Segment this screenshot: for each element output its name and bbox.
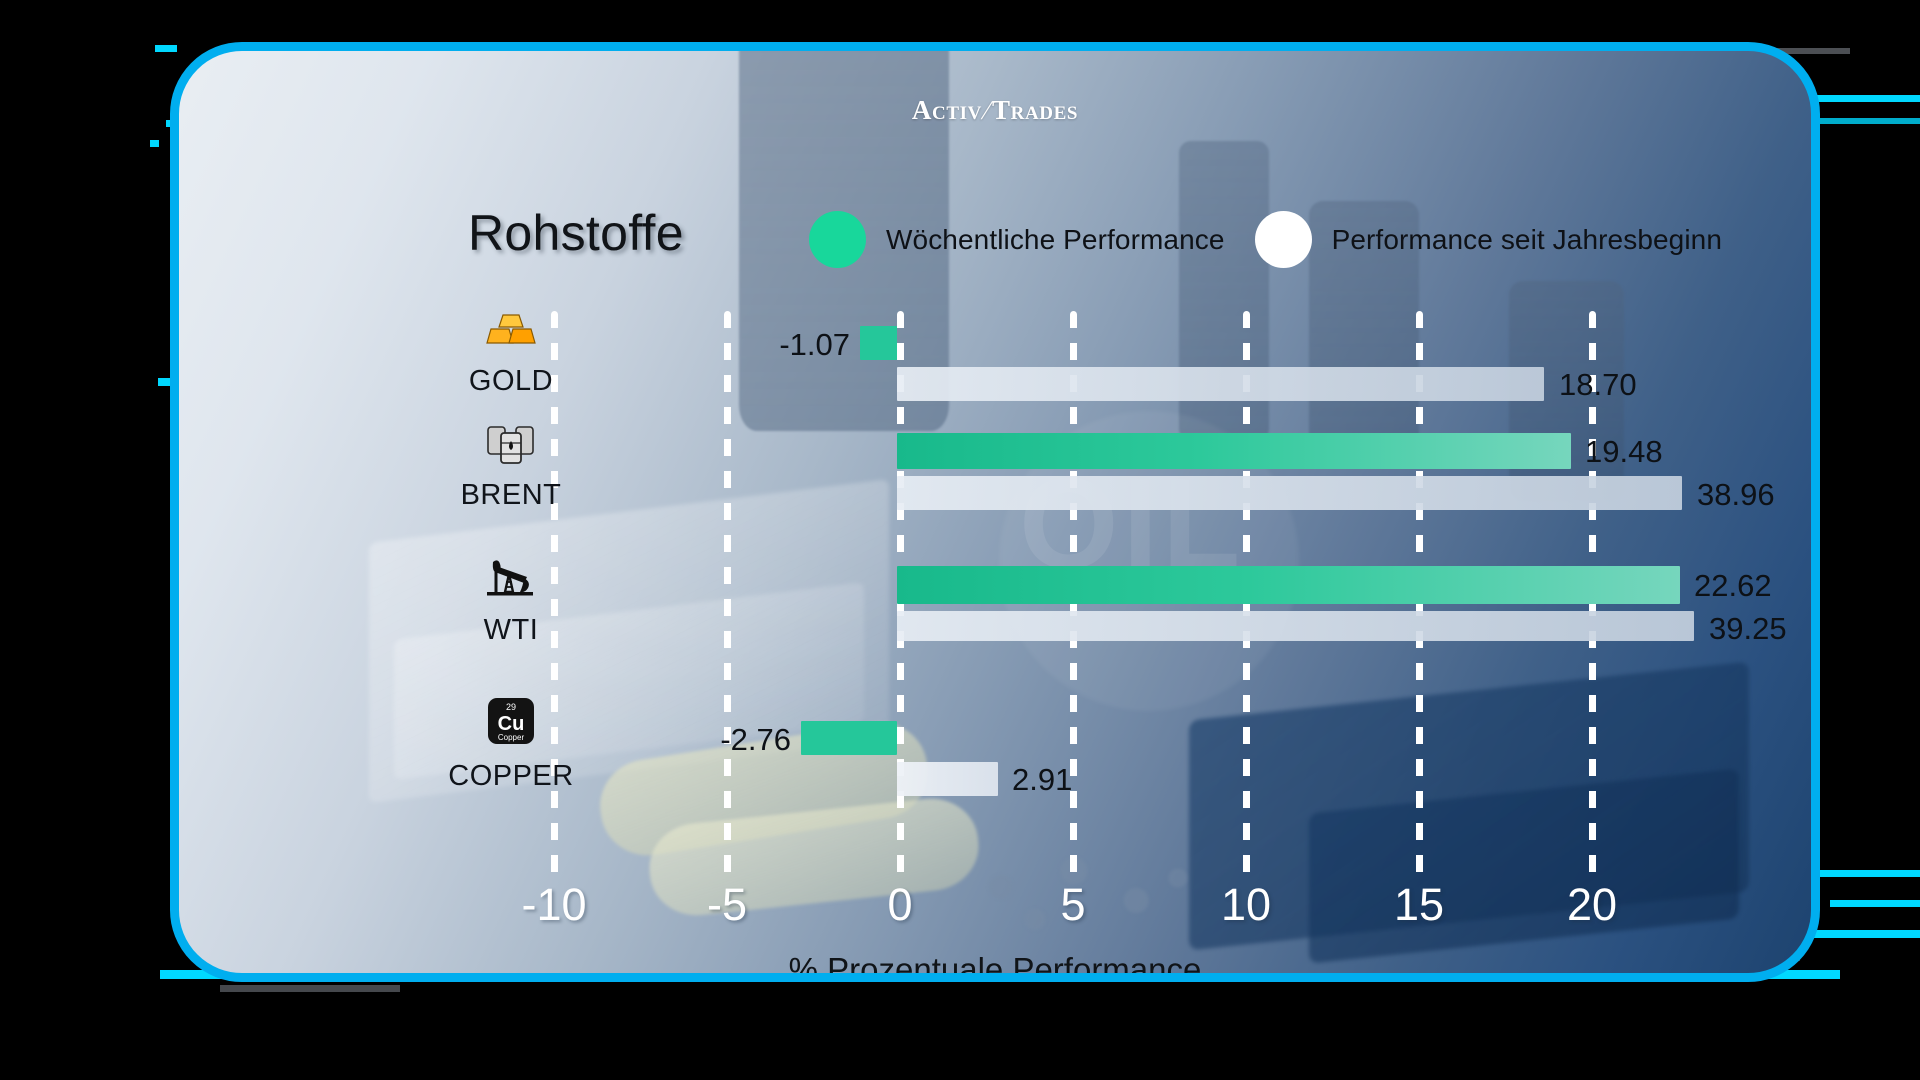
glitch-artifact [150, 140, 159, 147]
legend-label-weekly: Wöchentliche Performance [886, 224, 1225, 256]
logo-text-activ: Activ [912, 95, 982, 125]
x-tick-5: 5 [1060, 879, 1085, 931]
category-copper: 29 Cu Copper COPPER [411, 696, 611, 793]
x-tick-20: 20 [1567, 879, 1617, 931]
category-wti: WTI [411, 556, 611, 647]
legend-item-ytd: Performance seit Jahresbeginn [1255, 211, 1722, 268]
page-title: Rohstoffe [468, 204, 684, 262]
oil-pump-jack-icon [411, 556, 611, 612]
category-label-gold: GOLD [411, 365, 611, 398]
bar-wti-ytd [897, 611, 1694, 641]
gold-bars-icon [411, 311, 611, 363]
category-label-wti: WTI [411, 614, 611, 647]
category-label-copper: COPPER [411, 760, 611, 793]
x-tick--5: -5 [707, 879, 747, 931]
green-circle-icon [809, 211, 866, 268]
value-brent-weekly: 19.48 [1585, 436, 1663, 467]
bar-copper-ytd [897, 762, 998, 796]
bar-wti-weekly [897, 566, 1680, 604]
category-label-brent: BRENT [411, 479, 611, 512]
logo-text-trades: Trades [992, 95, 1078, 125]
x-tick-15: 15 [1394, 879, 1444, 931]
value-wti-weekly: 22.62 [1694, 570, 1772, 601]
bar-brent-ytd [897, 476, 1682, 510]
svg-text:Cu: Cu [498, 713, 525, 735]
value-brent-ytd: 38.96 [1697, 479, 1775, 510]
glitch-artifact [1805, 930, 1920, 938]
value-gold-ytd: 18.70 [1559, 369, 1637, 400]
activtrades-logo: Activ/Trades [179, 95, 1811, 126]
screenshot-root: OIL Activ/Trades Rohstoffe Wöchentliche … [0, 0, 1920, 1080]
chart-legend: Wöchentliche Performance Performance sei… [809, 211, 1722, 268]
x-axis-title: % Prozentuale Performance [179, 951, 1811, 982]
svg-text:Copper: Copper [498, 733, 525, 742]
chart-plot-area: GOLD -1.07 18.70 [179, 301, 1820, 876]
svg-text:29: 29 [506, 702, 516, 712]
value-copper-weekly: -2.76 [601, 724, 791, 755]
value-wti-ytd: 39.25 [1709, 613, 1787, 644]
glitch-artifact [1830, 900, 1920, 907]
x-tick-0: 0 [887, 879, 912, 931]
legend-item-weekly: Wöchentliche Performance [809, 211, 1225, 268]
oil-barrels-icon [411, 421, 611, 477]
bar-brent-weekly [897, 433, 1571, 469]
bar-copper-weekly [801, 721, 897, 755]
x-tick-10: 10 [1221, 879, 1271, 931]
glitch-artifact [1818, 870, 1920, 877]
x-axis-tick-labels: -10 -5 0 5 10 15 20 [179, 879, 1820, 939]
value-copper-ytd: 2.91 [1012, 764, 1072, 795]
value-gold-weekly: -1.07 [660, 329, 850, 360]
x-tick--10: -10 [521, 879, 586, 931]
glitch-artifact [155, 45, 177, 52]
infographic-card: OIL Activ/Trades Rohstoffe Wöchentliche … [170, 42, 1820, 982]
legend-label-ytd: Performance seit Jahresbeginn [1332, 224, 1722, 256]
copper-element-icon: 29 Cu Copper [411, 696, 611, 758]
white-circle-icon [1255, 211, 1312, 268]
bar-gold-ytd [897, 367, 1544, 401]
category-gold: GOLD [411, 311, 611, 398]
glitch-artifact [220, 985, 400, 992]
category-brent: BRENT [411, 421, 611, 512]
bar-gold-weekly [860, 326, 897, 360]
